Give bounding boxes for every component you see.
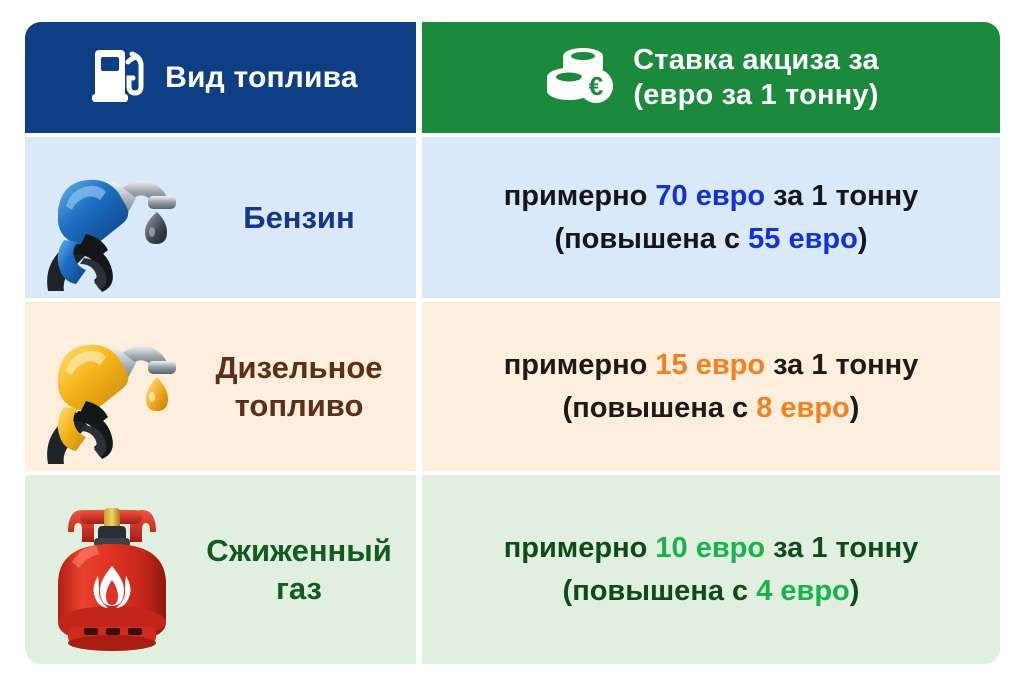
header-excise-rate-label: Ставка акциза за (евро за 1 тонну)	[633, 43, 879, 113]
svg-text:€: €	[589, 71, 603, 101]
table-row: Дизельное топливо примерно 15 евро за 1 …	[25, 302, 1000, 471]
previous-rate-prefix: (повышена с	[563, 392, 757, 424]
blue-fuel-nozzle-icon	[25, 137, 200, 298]
fuel-pump-icon	[91, 44, 147, 111]
rate-amount-new: 10 евро	[655, 532, 765, 564]
row-lpg-value-cell: примерно 10 евро за 1 тонну (повышена с …	[422, 475, 1000, 664]
header-cell-fuel-type: Вид топлива	[25, 22, 416, 133]
rate-amount-previous: 8 евро	[756, 392, 850, 424]
row-gasoline-label-cell: Бензин	[25, 137, 416, 298]
rate-prefix: примерно	[504, 349, 656, 381]
excise-rate-text-diesel: примерно 15 евро за 1 тонну (повышена с …	[490, 344, 933, 428]
rate-amount-previous: 55 евро	[748, 223, 858, 255]
fuel-name-lpg: Сжиженный газ	[200, 532, 416, 608]
table-header-row: Вид топлива € Ставка акциза за (ев	[25, 22, 1000, 133]
previous-rate-prefix: (повышена с	[563, 575, 757, 607]
rate-amount-previous: 4 евро	[756, 575, 850, 607]
rate-amount-new: 70 евро	[655, 180, 765, 212]
table-row: Сжиженный газ примерно 10 евро за 1 тонн…	[25, 475, 1000, 664]
row-diesel-label-cell: Дизельное топливо	[25, 302, 416, 471]
coins-euro-icon: €	[543, 43, 615, 112]
fuel-name-gasoline: Бензин	[200, 199, 416, 237]
excise-rates-infographic: Вид топлива € Ставка акциза за (ев	[0, 0, 1024, 683]
previous-rate-suffix: )	[850, 392, 860, 424]
fuel-name-diesel: Дизельное топливо	[200, 349, 416, 425]
header-cell-excise-rate: € Ставка акциза за (евро за 1 тонну)	[422, 22, 1000, 133]
table-row: Бензин примерно 70 евро за 1 тонну (повы…	[25, 137, 1000, 298]
rate-prefix: примерно	[504, 532, 656, 564]
excise-rate-text-gasoline: примерно 70 евро за 1 тонну (повышена с …	[490, 175, 933, 259]
excise-rate-text-lpg: примерно 10 евро за 1 тонну (повышена с …	[490, 527, 933, 611]
previous-rate-prefix: (повышена с	[554, 223, 748, 255]
rate-suffix: за 1 тонну	[765, 532, 918, 564]
header-fuel-type-label: Вид топлива	[165, 60, 358, 96]
red-gas-cylinder-icon	[25, 475, 200, 664]
previous-rate-suffix: )	[858, 223, 868, 255]
rate-prefix: примерно	[504, 180, 656, 212]
rate-suffix: за 1 тонну	[765, 180, 918, 212]
previous-rate-suffix: )	[850, 575, 860, 607]
row-diesel-value-cell: примерно 15 евро за 1 тонну (повышена с …	[422, 302, 1000, 471]
rate-suffix: за 1 тонну	[765, 349, 918, 381]
fuel-excise-table: Вид топлива € Ставка акциза за (ев	[25, 22, 1000, 660]
row-gasoline-value-cell: примерно 70 евро за 1 тонну (повышена с …	[422, 137, 1000, 298]
rate-amount-new: 15 евро	[655, 349, 765, 381]
row-lpg-label-cell: Сжиженный газ	[25, 475, 416, 664]
yellow-fuel-nozzle-icon	[25, 302, 200, 471]
